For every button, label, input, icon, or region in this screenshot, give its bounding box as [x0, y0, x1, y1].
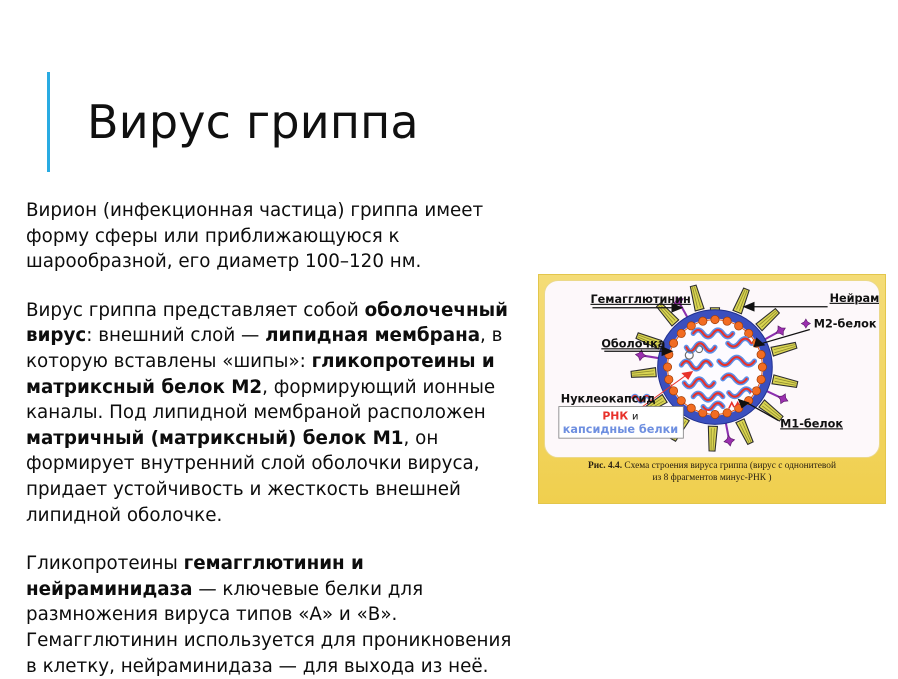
title-accent-bar — [47, 72, 50, 172]
virus-diagram-canvas: Гемагглютинин Нейраминидаза M2-белок Обо… — [544, 280, 880, 458]
paragraph-3: Гликопротеины гемагглютинин и нейраминид… — [26, 551, 518, 679]
text-run: Вирион (инфекционная частица) гриппа име… — [26, 200, 483, 272]
legend-rna: РНК — [602, 409, 628, 422]
figure-caption-number: Рис. 4.4. — [588, 461, 622, 471]
paragraph-2: Вирус гриппа представляет собой оболочеч… — [26, 298, 518, 528]
figure-caption-line2: из 8 фрагментов минус-РНК ) — [653, 473, 772, 483]
body-text-column: Вирион (инфекционная частица) гриппа име… — [26, 198, 518, 679]
slide-title-block: Вирус гриппа — [47, 72, 567, 172]
virus-diagram-figure: Гемагглютинин Нейраминидаза M2-белок Обо… — [538, 274, 886, 504]
page-title: Вирус гриппа — [87, 98, 419, 146]
figure-caption: Рис. 4.4. Схема строения вируса гриппа (… — [549, 461, 875, 484]
emphasis-run: матричный (матриксный) белок М1 — [26, 428, 404, 449]
m2-legend-glyph — [801, 319, 810, 328]
label-neuraminidase: Нейраминидаза — [830, 292, 879, 305]
text-run: : внешний слой — — [86, 325, 265, 346]
label-hemagglutinin: Гемагглютинин — [590, 293, 690, 306]
label-m2-protein: M2-белок — [814, 317, 877, 330]
label-envelope: Оболочка — [601, 337, 665, 350]
paragraph-1: Вирион (инфекционная частица) гриппа име… — [26, 198, 518, 275]
text-run: Гликопротеины — [26, 553, 184, 574]
influenza-virion-schematic: Гемагглютинин Нейраминидаза M2-белок Обо… — [545, 281, 879, 457]
text-run: Вирус гриппа представляет собой — [26, 300, 365, 321]
label-m1-protein: M1-белок — [780, 417, 843, 430]
emphasis-run: липидная мембрана — [265, 325, 480, 346]
legend-and: и — [632, 411, 638, 422]
nucleocapsid-legend-box: РНК и капсидные белки — [559, 407, 684, 439]
label-nucleocapsid: Нуклеокапсид — [561, 393, 656, 406]
legend-capsid-proteins: капсидные белки — [563, 423, 678, 436]
figure-caption-line1: Схема строения вируса гриппа (вирус с од… — [622, 461, 836, 471]
